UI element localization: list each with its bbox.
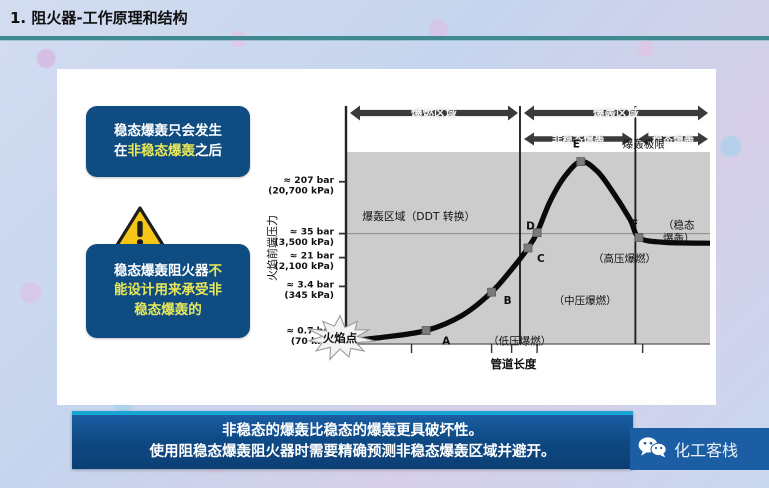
y-tick-label-sub-3: (3,500 kPa) <box>275 237 334 248</box>
data-point-label-E: E <box>573 139 580 151</box>
data-point-desc-A: （低压爆燃） <box>488 335 551 348</box>
y-tick-label-main-3: ≈ 35 bar <box>290 227 335 238</box>
callout1-line1: 稳态爆轰只会发生 <box>114 122 222 141</box>
ddt-region-label: 爆轰区域（DDT 转换） <box>362 209 475 223</box>
watermark-text: 化工客栈 <box>674 437 738 461</box>
data-point-label-F: F <box>631 218 638 230</box>
y-tick-label-sub-2: (2,100 kPa) <box>275 261 334 272</box>
data-point-label-C: C <box>537 253 545 265</box>
callout2-line3: 稳态爆轰的 <box>114 301 222 320</box>
data-point-label-B: B <box>504 295 512 307</box>
y-tick-label-sub-4: (20,700 kPa) <box>268 185 334 196</box>
y-axis-title: 火焰前端压力 <box>265 215 279 281</box>
data-point-desc-E: 爆轰极限 <box>623 138 665 151</box>
y-tick-label-main-1: ≈ 3.4 bar <box>286 279 334 290</box>
data-point-desc-F-line2: 爆轰） <box>663 231 695 244</box>
data-point-desc-C: （高压爆燃） <box>593 252 656 265</box>
callout-flame-arrester-warning: 稳态爆轰阻火器不 能设计用来承受非 稳态爆轰的 <box>86 244 250 338</box>
data-point-label-D: D <box>526 221 535 233</box>
callout-stable-detonation-note: 稳态爆轰只会发生 在非稳态爆轰之后 <box>86 106 250 177</box>
data-point-label-A: A <box>442 336 451 348</box>
arrow-detonation-region: 爆轰区域 <box>524 106 708 121</box>
data-point-E <box>577 158 585 166</box>
watermark: 化工客栈 <box>630 428 769 470</box>
callout1-line2: 在非稳态爆轰之后 <box>114 142 222 161</box>
data-point-B <box>488 288 496 296</box>
flame-point-label: 火焰点 <box>323 331 358 345</box>
arrow-deflagration-region-label: 爆燃区域 <box>411 106 457 120</box>
data-point-A <box>422 327 430 335</box>
callout1-highlight: 非稳态爆轰 <box>128 143 196 159</box>
summary-banner: 非稳态的爆轰比稳态的爆轰更具破坏性。 使用阻稳态爆轰阻火器时需要精确预测非稳态爆… <box>72 411 633 469</box>
data-point-desc-F-line1: （稳态 <box>663 218 695 231</box>
y-tick-label-main-2: ≈ 21 bar <box>290 251 335 262</box>
callout2-line1: 稳态爆轰阻火器不 <box>114 262 222 281</box>
page-title: 1. 阻火器-工作原理和结构 <box>10 7 188 28</box>
data-point-C <box>524 244 532 252</box>
callout2-highlight-1: 不 <box>209 263 223 279</box>
header-divider-shadow <box>0 40 769 41</box>
arrow-deflagration-region: 爆燃区域 <box>350 106 518 121</box>
banner-line-2: 使用阻稳态爆轰阻火器时需要精确预测非稳态爆轰区域并避开。 <box>150 442 556 463</box>
data-point-desc-B: （中压爆燃） <box>554 294 617 307</box>
wechat-icon <box>638 436 668 462</box>
pressure-vs-pipe-length-chart: ≈ 0.7 bar(70 kPa)≈ 3.4 bar(345 kPa)≈ 21 … <box>258 92 710 380</box>
callout2-line2: 能设计用来承受非 <box>114 281 222 300</box>
y-tick-label-main-4: ≈ 207 bar <box>283 175 334 186</box>
banner-line-1: 非稳态的爆轰比稳态的爆轰更具破坏性。 <box>222 421 483 442</box>
y-tick-label-sub-1: (345 kPa) <box>284 290 334 301</box>
x-axis-title: 管道长度 <box>490 357 536 371</box>
data-point-F <box>635 233 643 241</box>
arrow-detonation-region-label: 爆轰区域 <box>593 106 639 120</box>
